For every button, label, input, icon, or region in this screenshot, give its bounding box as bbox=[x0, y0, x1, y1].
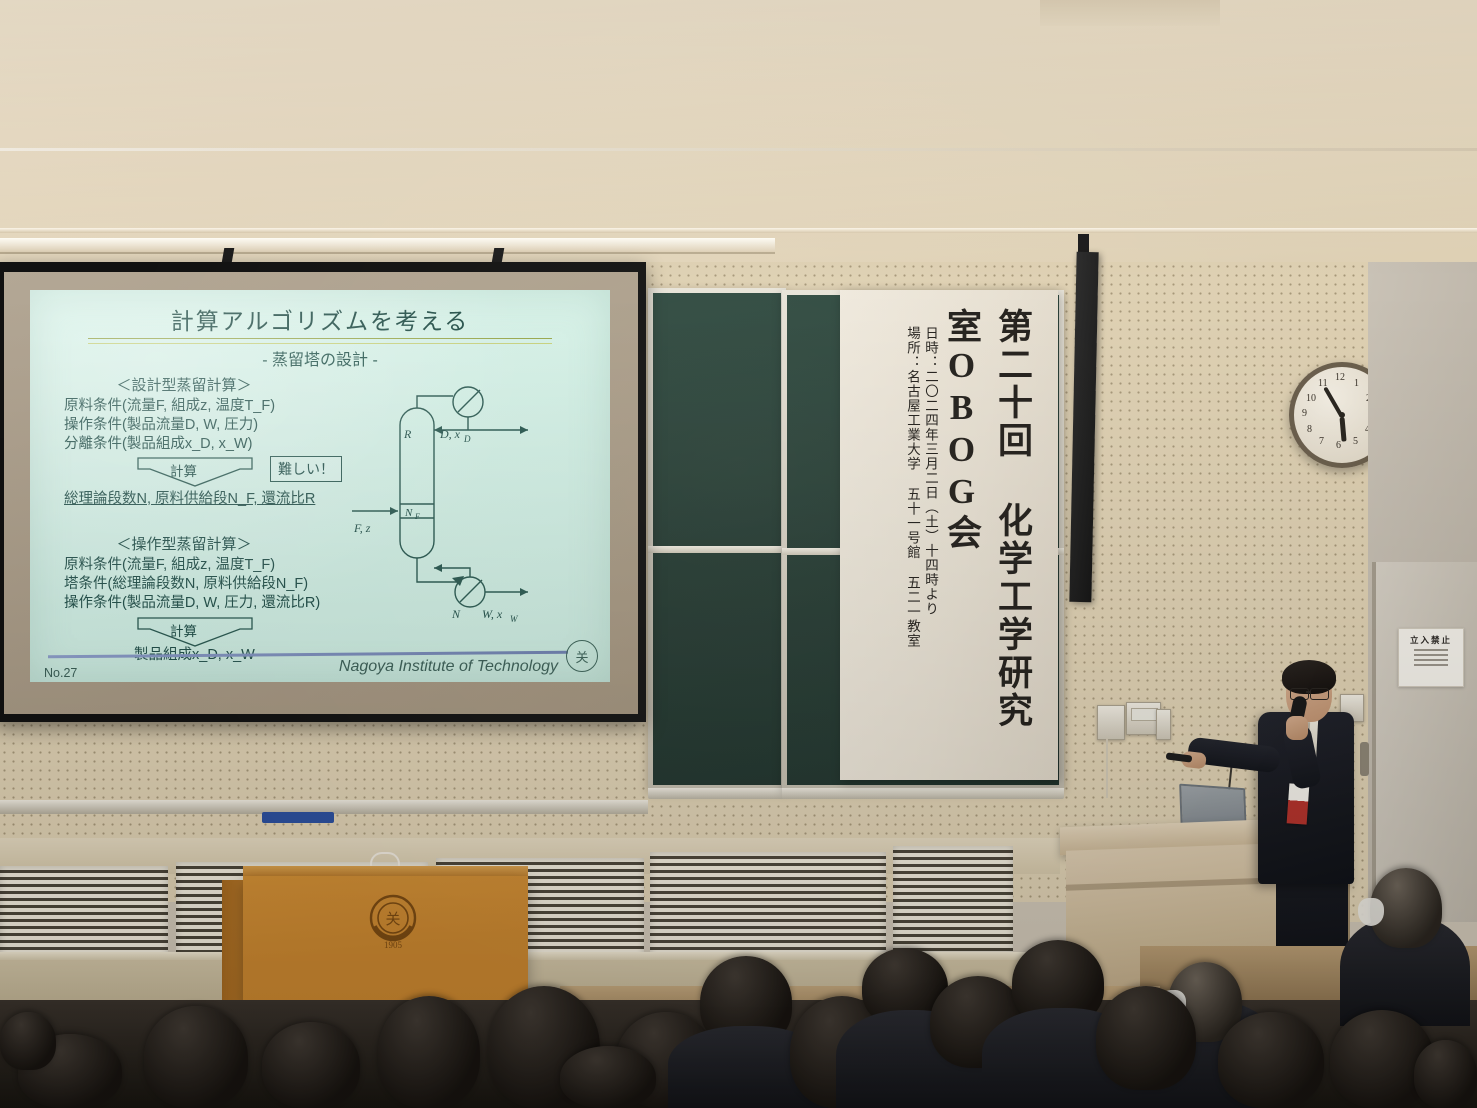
institution-seal-icon: 关 bbox=[566, 640, 598, 672]
slide-title: 計算アルゴリズムを考える bbox=[30, 302, 610, 336]
block2-line-2: 塔条件(総理論段数N, 原料供給段N_F) bbox=[64, 575, 308, 594]
clock-minute-hand bbox=[1323, 387, 1343, 418]
panel-display bbox=[1131, 708, 1158, 721]
block2-arrow-label: 計算 bbox=[170, 620, 197, 640]
block2-line-3: 操作条件(製品流量D, W, 圧力, 還流比R) bbox=[64, 594, 320, 613]
block2-header: ＜操作型蒸留計算＞ bbox=[48, 535, 320, 554]
podium-emblem-year: 1905 bbox=[384, 940, 403, 950]
block1-result: 総理論段数N, 原料供給段N_F, 還流比R bbox=[64, 490, 315, 509]
clock-num-1: 1 bbox=[1354, 378, 1359, 389]
audience-member bbox=[144, 1006, 248, 1108]
block1-header: ＜設計型蒸留計算＞ bbox=[48, 376, 320, 395]
clock-num-12: 12 bbox=[1335, 372, 1345, 383]
svg-text:F: F bbox=[414, 512, 420, 521]
audience-member bbox=[262, 1022, 360, 1108]
slide-footer-institution: Nagoya Institute of Technology bbox=[339, 658, 558, 676]
audience-member bbox=[0, 1012, 56, 1070]
blackboard-left bbox=[648, 288, 786, 790]
banner-title: 第二十回 化学工学研究室OBOG会 bbox=[936, 308, 1038, 760]
block1-line-1: 原料条件(流量F, 組成z, 温度T_F) bbox=[64, 397, 275, 416]
no-entry-sign: 立入禁止 bbox=[1398, 628, 1464, 687]
ceiling-lower-seam bbox=[0, 228, 1477, 233]
svg-text:N: N bbox=[451, 607, 461, 621]
svg-text:R: R bbox=[403, 427, 412, 441]
wall-vent bbox=[650, 852, 886, 964]
ceiling-vent bbox=[1040, 0, 1220, 26]
clock-num-9: 9 bbox=[1302, 408, 1307, 419]
banner-place: 場所：名古屋工業大学 五十一号館 五二一教室 bbox=[902, 326, 922, 686]
slide-title-rule bbox=[88, 338, 552, 344]
ceiling-seam bbox=[0, 148, 1477, 151]
lecture-hall-photo: 第二十回 化学工学研究室OBOG会 日時：二〇二四年三月二日（土）十四時より 場… bbox=[0, 0, 1477, 1108]
clock-num-10: 10 bbox=[1306, 393, 1316, 404]
audience-member bbox=[1096, 986, 1196, 1090]
slide-page-number: No.27 bbox=[44, 666, 77, 680]
wall-switch-panel[interactable] bbox=[1097, 705, 1125, 740]
presenter-glasses-bridge bbox=[1306, 691, 1311, 693]
slide-subtitle: - 蒸留塔の設計 - bbox=[30, 346, 610, 370]
block1-arrow-label: 計算 bbox=[170, 460, 197, 480]
svg-text:N: N bbox=[404, 507, 413, 519]
svg-text:D: D bbox=[463, 434, 471, 444]
svg-text:D, x: D, x bbox=[439, 427, 461, 441]
clock-num-11: 11 bbox=[1318, 378, 1328, 389]
banner-date: 日時：二〇二四年三月二日（土）十四時より bbox=[920, 326, 940, 656]
presentation-slide: 計算アルゴリズムを考える - 蒸留塔の設計 - ＜設計型蒸留計算＞ 原料条件(流… bbox=[30, 290, 610, 682]
block1-line-2: 操作条件(製品流量D, W, 圧力) bbox=[64, 416, 258, 435]
clock-num-6: 6 bbox=[1336, 440, 1341, 451]
clock-num-5: 5 bbox=[1353, 436, 1358, 447]
wall-vent bbox=[893, 846, 1013, 952]
block2-line-1: 原料条件(流量F, 組成z, 温度T_F) bbox=[64, 556, 275, 575]
audience-member bbox=[378, 996, 480, 1108]
presenter-name-badge bbox=[1287, 783, 1310, 824]
distillation-column-diagram: R D, xD NF F, z N W, xW bbox=[348, 386, 568, 636]
audience-member bbox=[1218, 1012, 1324, 1108]
svg-text:关: 关 bbox=[385, 911, 400, 928]
clock-hour-hand bbox=[1340, 417, 1347, 441]
audience-member bbox=[1414, 1040, 1477, 1108]
block1-line-3: 分離条件(製品組成x_D, x_W) bbox=[64, 435, 253, 454]
presenter-glasses-right bbox=[1310, 688, 1329, 700]
screen-mount-rail bbox=[0, 238, 775, 254]
panel-cable bbox=[1106, 738, 1108, 798]
presenter-right-hand bbox=[1286, 716, 1308, 740]
wall-switch-small[interactable] bbox=[1156, 709, 1171, 740]
clock-num-7: 7 bbox=[1319, 436, 1324, 447]
audience-member bbox=[560, 1046, 656, 1108]
event-banner: 第二十回 化学工学研究室OBOG会 日時：二〇二四年三月二日（土）十四時より 場… bbox=[840, 290, 1058, 780]
chalk-tray-marker-left bbox=[262, 812, 334, 823]
door[interactable] bbox=[1372, 562, 1477, 922]
svg-text:W: W bbox=[510, 614, 519, 624]
door-handle[interactable] bbox=[1360, 742, 1369, 776]
svg-text:F, z: F, z bbox=[353, 521, 371, 535]
podium-emblem-icon: 关 1905 bbox=[357, 886, 429, 958]
block1-callout: 難しい！ bbox=[270, 456, 342, 482]
no-entry-sign-title: 立入禁止 bbox=[1410, 634, 1452, 646]
svg-text:W, x: W, x bbox=[482, 607, 503, 621]
clock-num-8: 8 bbox=[1307, 424, 1312, 435]
face-mask bbox=[1358, 898, 1384, 926]
